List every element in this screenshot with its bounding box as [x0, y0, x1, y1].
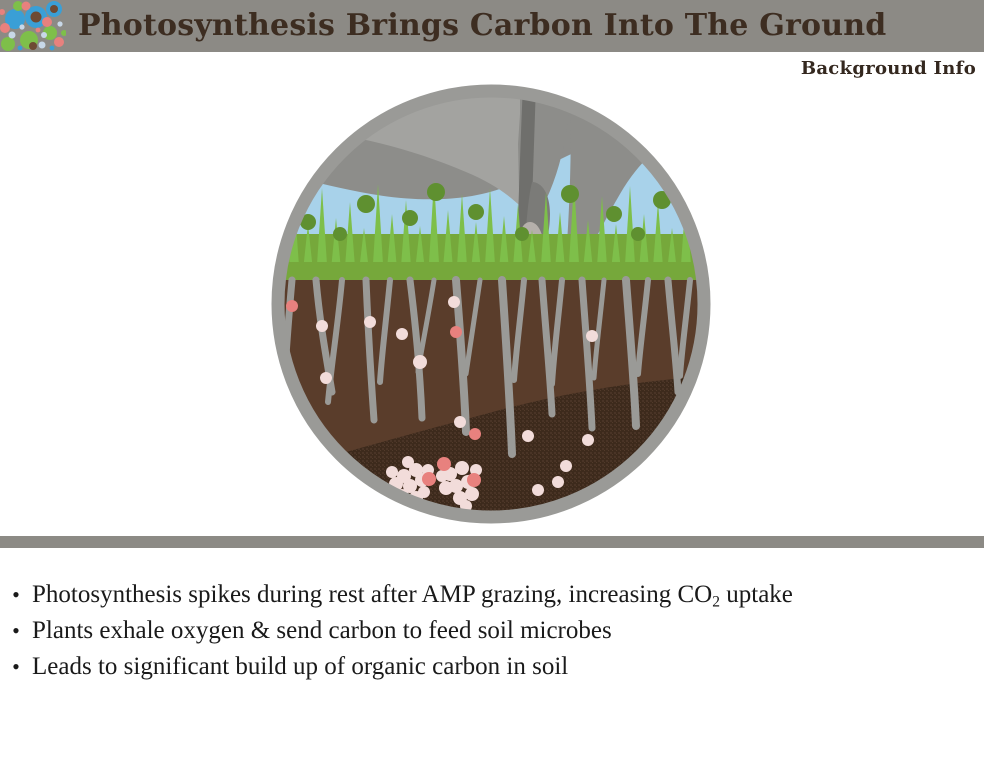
section-label: Background Info: [801, 58, 976, 79]
bullet-text: Leads to significant build up of organic…: [32, 650, 568, 692]
bullet-marker-icon: •: [0, 650, 32, 684]
bullet-list: • Photosynthesis spikes during rest afte…: [0, 578, 984, 686]
soil-cross-section-illustration: [270, 84, 712, 524]
bullet-marker-icon: •: [0, 614, 32, 648]
list-item: • Leads to significant build up of organ…: [0, 650, 984, 684]
bullet-text-pre: Leads to significant build up of organic…: [32, 653, 568, 680]
bullet-subscript: 2: [712, 594, 720, 611]
list-item: • Plants exhale oxygen & send carbon to …: [0, 614, 984, 648]
bullet-marker-icon: •: [0, 578, 32, 612]
divider-bar: [0, 536, 984, 548]
bullet-text-pre: Plants exhale oxygen & send carbon to fe…: [32, 617, 612, 644]
bullet-text-post: uptake: [720, 581, 793, 608]
title-banner: Photosynthesis Brings Carbon Into The Gr…: [0, 0, 984, 52]
list-item: • Photosynthesis spikes during rest afte…: [0, 578, 984, 612]
bullet-text-pre: Photosynthesis spikes during rest after …: [32, 581, 712, 608]
page-title: Photosynthesis Brings Carbon Into The Gr…: [78, 4, 886, 48]
soil-microbes-logo-icon: [0, 0, 66, 52]
